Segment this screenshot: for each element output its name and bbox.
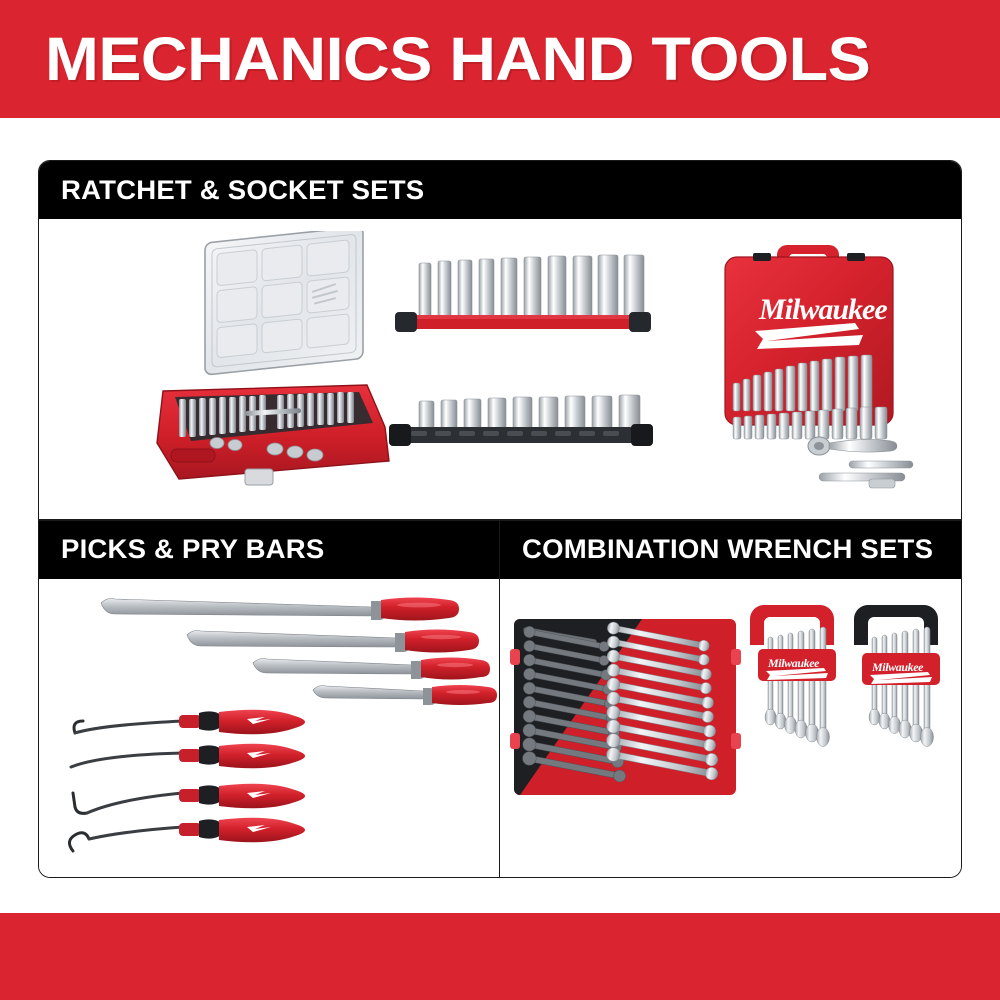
section-title: PICKS & PRY BARS (61, 534, 324, 565)
top-banner: MECHANICS HAND TOOLS (0, 0, 1000, 118)
wrench-holder-pair[interactable]: Milwaukee (750, 589, 950, 804)
deep-socket-rail[interactable] (391, 241, 651, 341)
shallow-socket-rail[interactable] (387, 379, 655, 451)
svg-text:Milwaukee: Milwaukee (871, 660, 924, 674)
section-title: RATCHET & SOCKET SETS (61, 175, 424, 206)
red-wrench-holder: Milwaukee (750, 605, 836, 747)
milwaukee-case-socket-set[interactable]: Milwaukee (701, 227, 936, 489)
section-title: COMBINATION WRENCH SETS (522, 534, 933, 565)
page-title: MECHANICS HAND TOOLS (45, 27, 870, 91)
packout-socket-set-case[interactable] (151, 231, 391, 491)
black-wrench-holder: Milwaukee (854, 605, 940, 747)
svg-text:Milwaukee: Milwaukee (758, 293, 887, 326)
section-header-ratchet-socket-sets: RATCHET & SOCKET SETS (39, 161, 961, 219)
pry-bar-set[interactable] (79, 589, 499, 719)
bottom-banner (0, 913, 1000, 1000)
section-body-combination-wrench-sets: Milwaukee (500, 579, 961, 878)
wrench-tray-set[interactable] (508, 613, 743, 803)
section-body-picks-pry-bars (39, 579, 499, 878)
svg-text:Milwaukee: Milwaukee (767, 656, 820, 670)
content-card: RATCHET & SOCKET SETS (38, 160, 962, 878)
section-combination-wrench-sets: COMBINATION WRENCH SETS (500, 521, 961, 878)
section-picks-pry-bars: PICKS & PRY BARS (39, 521, 500, 878)
section-header-combination-wrench-sets: COMBINATION WRENCH SETS (500, 521, 961, 579)
section-body-ratchet-socket-sets: Milwaukee (39, 219, 961, 519)
hook-and-pick-set[interactable] (61, 705, 321, 865)
poster-page: MECHANICS HAND TOOLS RATCHET & SOCKET SE… (0, 0, 1000, 1000)
section-ratchet-socket-sets: RATCHET & SOCKET SETS (39, 161, 961, 519)
section-header-picks-pry-bars: PICKS & PRY BARS (39, 521, 499, 579)
